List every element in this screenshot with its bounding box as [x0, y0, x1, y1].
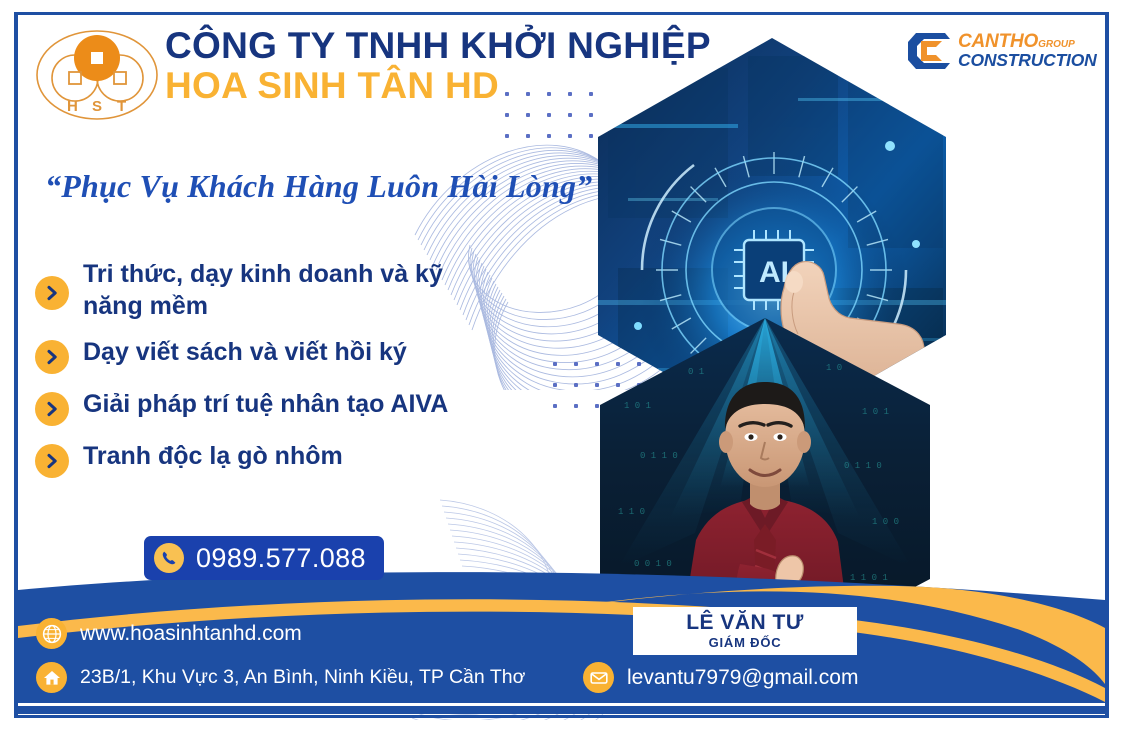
company-logo-mark: H S T — [34, 26, 160, 124]
company-name-line1: CÔNG TY TNHH KHỞI NGHIỆP — [165, 26, 725, 66]
person-name: LÊ VĂN TƯ — [686, 612, 804, 634]
footer-contact-bar: www.hoasinhtanhd.com 23B/1, Khu Vực 3, A… — [18, 572, 1105, 714]
service-label: Tri thức, dạy kinh doanh và kỹ năng mềm — [83, 258, 505, 322]
chevron-right-icon — [35, 392, 69, 426]
chevron-right-icon — [35, 444, 69, 478]
contact-website-row[interactable]: www.hoasinhtanhd.com — [36, 618, 302, 649]
svg-text:0 0 1 0: 0 0 1 0 — [634, 559, 672, 569]
card-border-bottom — [14, 715, 1109, 718]
partner-name-line1: CANTHOGROUP — [958, 32, 1097, 51]
director-name-plate: LÊ VĂN TƯ GIÁM ĐỐC — [633, 607, 857, 655]
logo-letter-h: H — [67, 98, 78, 115]
services-list: Tri thức, dạy kinh doanh và kỹ năng mềm … — [35, 258, 505, 492]
phone-icon — [154, 543, 184, 573]
phone-number-text: 0989.577.088 — [196, 543, 366, 574]
contact-email-row[interactable]: levantu7979@gmail.com — [583, 662, 858, 693]
service-label: Tranh độc lạ gò nhôm — [83, 440, 343, 472]
cantho-hexagon-icon — [905, 30, 951, 72]
partner-logo: CANTHOGROUP CONSTRUCTION — [905, 27, 1100, 75]
card-border-top — [14, 12, 1109, 15]
service-item: Tranh độc lạ gò nhôm — [35, 440, 505, 478]
logo-letter-t: T — [117, 98, 126, 115]
service-label: Dạy viết sách và viết hồi ký — [83, 336, 407, 368]
email-text: levantu7979@gmail.com — [627, 666, 858, 690]
svg-text:0 1: 0 1 — [688, 367, 704, 377]
phone-number-badge[interactable]: 0989.577.088 — [144, 536, 384, 580]
svg-text:0 1 1 0: 0 1 1 0 — [640, 451, 678, 461]
card-border-right — [1105, 12, 1109, 718]
logo-letter-s: S — [92, 98, 102, 115]
globe-icon — [36, 618, 67, 649]
partner-name-line2: CONSTRUCTION — [958, 52, 1097, 70]
contact-address-row: 23B/1, Khu Vực 3, An Bình, Ninh Kiều, TP… — [36, 662, 525, 693]
home-icon — [36, 662, 67, 693]
address-text: 23B/1, Khu Vực 3, An Bình, Ninh Kiều, TP… — [80, 666, 525, 689]
company-name-line2: HOA SINH TÂN HD — [165, 66, 725, 106]
svg-text:1 0 0: 1 0 0 — [872, 517, 899, 527]
svg-text:0 1 1 0: 0 1 1 0 — [844, 461, 882, 471]
svg-text:1 0 1: 1 0 1 — [862, 407, 889, 417]
website-text: www.hoasinhtanhd.com — [80, 622, 302, 646]
business-card: AI — [0, 0, 1123, 731]
svg-text:1 0 1: 1 0 1 — [624, 401, 651, 411]
service-label: Giải pháp trí tuệ nhân tạo AIVA — [83, 388, 448, 420]
person-role: GIÁM ĐỐC — [709, 635, 782, 650]
service-item: Giải pháp trí tuệ nhân tạo AIVA — [35, 388, 505, 426]
envelope-icon — [583, 662, 614, 693]
chevron-right-icon — [35, 276, 69, 310]
chevron-right-icon — [35, 340, 69, 374]
svg-text:1 1 0: 1 1 0 — [618, 507, 645, 517]
company-title-block: CÔNG TY TNHH KHỞI NGHIỆP HOA SINH TÂN HD — [165, 26, 725, 105]
svg-text:1 0: 1 0 — [826, 363, 842, 373]
company-slogan: “Phục Vụ Khách Hàng Luôn Hài Lòng” — [45, 168, 592, 205]
service-item: Tri thức, dạy kinh doanh và kỹ năng mềm — [35, 258, 505, 322]
card-border-left — [14, 12, 18, 718]
service-item: Dạy viết sách và viết hồi ký — [35, 336, 505, 374]
